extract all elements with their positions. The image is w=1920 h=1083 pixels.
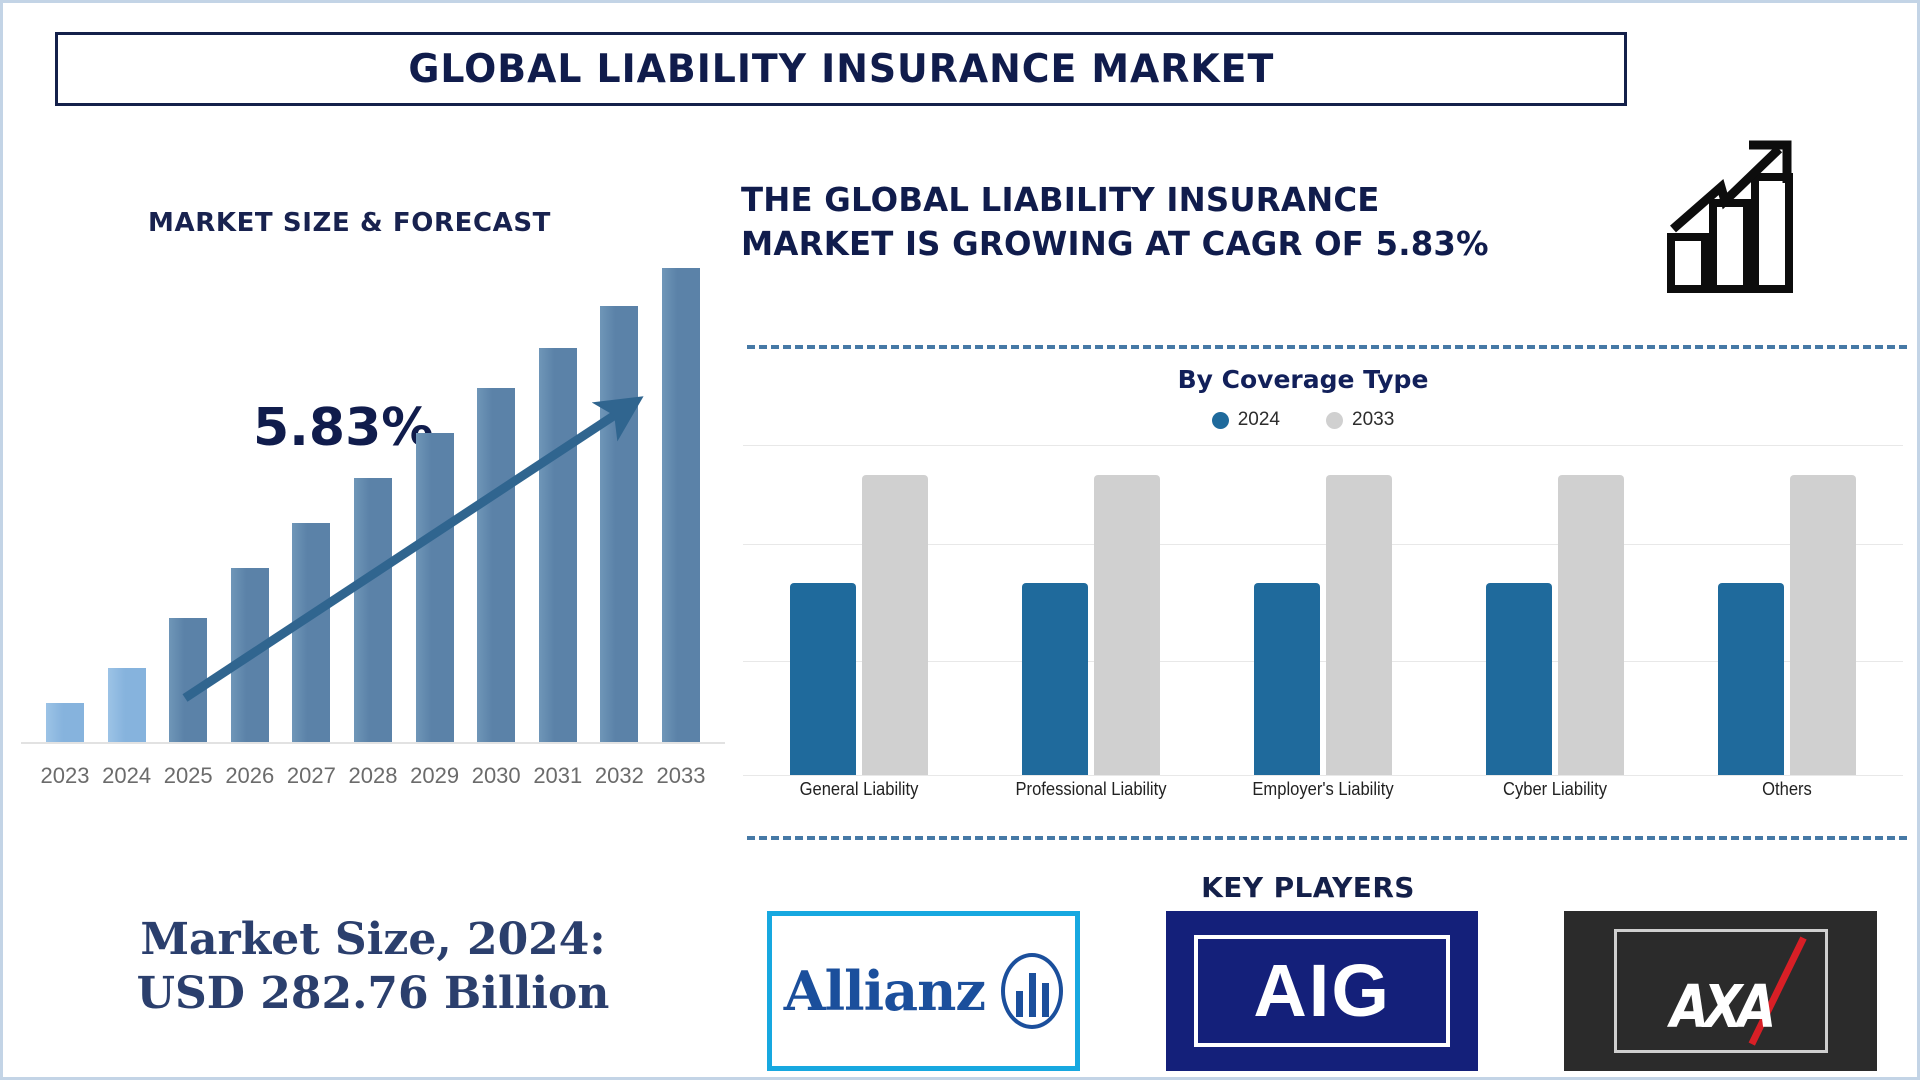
coverage-category-labels: General LiabilityProfessional LiabilityE… (743, 779, 1903, 813)
coverage-bar-group (1207, 445, 1439, 775)
year-label: 2030 (470, 763, 522, 789)
coverage-and-players-panel: THE GLOBAL LIABILITY INSURANCE MARKET IS… (733, 113, 1915, 1073)
page-title: GLOBAL LIABILITY INSURANCE MARKET (408, 47, 1274, 92)
market-size-bar (662, 268, 700, 743)
market-size-bar (600, 306, 638, 743)
key-players-logos: Allianz AIG AXA (767, 911, 1877, 1083)
coverage-bar-group (743, 445, 975, 775)
coverage-bar-2033 (862, 475, 928, 775)
market-size-bar (108, 668, 146, 743)
year-label: 2025 (162, 763, 214, 789)
headline-line-2: MARKET IS GROWING AT CAGR OF 5.83% (741, 222, 1682, 266)
logo-aig[interactable]: AIG (1166, 911, 1479, 1071)
year-label: 2029 (409, 763, 461, 789)
legend-label: 2033 (1352, 409, 1394, 431)
market-size-forecast-panel: MARKET SIZE & FORECAST 5.83% 20232024202… (3, 113, 743, 1073)
year-label: 2027 (285, 763, 337, 789)
logo-axa[interactable]: AXA (1564, 911, 1877, 1071)
coverage-bars (743, 445, 1903, 775)
coverage-bar-2033 (1558, 475, 1624, 775)
market-size-bar (539, 348, 577, 743)
headline: THE GLOBAL LIABILITY INSURANCE MARKET IS… (741, 178, 1682, 266)
market-size-bars (17, 253, 729, 743)
market-size-bar-slot (347, 253, 399, 743)
coverage-bar-2033 (1326, 475, 1392, 775)
legend-item[interactable]: 2033 (1326, 409, 1394, 431)
market-size-bar-slot (655, 253, 707, 743)
market-size-bar (354, 478, 392, 743)
coverage-bar-2033 (1094, 475, 1160, 775)
year-label: 2026 (224, 763, 276, 789)
coverage-bar-2024 (790, 583, 856, 775)
coverage-bar-group (1671, 445, 1903, 775)
coverage-bar-group (1439, 445, 1671, 775)
year-axis-labels: 2023202420252026202720282029203020312032… (17, 751, 729, 789)
coverage-bar-2024 (1022, 583, 1088, 775)
headline-line-1: THE GLOBAL LIABILITY INSURANCE (741, 178, 1682, 222)
coverage-chart-title: By Coverage Type (733, 365, 1873, 394)
coverage-bar-2024 (1254, 583, 1320, 775)
axis-baseline (21, 742, 725, 744)
grid-line (743, 775, 1903, 776)
section-label-market-size-forecast: MARKET SIZE & FORECAST (148, 208, 551, 238)
year-label: 2033 (655, 763, 707, 789)
bar-chart-growth-arrow-icon (1663, 133, 1803, 293)
coverage-bar-group (975, 445, 1207, 775)
legend-dot-icon (1326, 412, 1343, 429)
aig-frame: AIG (1194, 935, 1450, 1047)
allianz-lockup: Allianz (784, 953, 1063, 1029)
market-size-bar (231, 568, 269, 743)
market-size-bar-slot (285, 253, 337, 743)
legend-label: 2024 (1238, 409, 1280, 431)
market-size-bar-slot (470, 253, 522, 743)
market-size-bar (169, 618, 207, 743)
market-size-line-1: Market Size, 2024: (3, 913, 743, 967)
year-label: 2028 (347, 763, 399, 789)
allianz-emblem-icon (1001, 953, 1063, 1029)
axa-frame: AXA (1614, 929, 1828, 1053)
market-size-line-2: USD 282.76 Billion (3, 967, 743, 1021)
coverage-category-label: General Liability (752, 779, 965, 800)
market-size-bar-slot (224, 253, 276, 743)
year-label: 2023 (39, 763, 91, 789)
year-label: 2031 (532, 763, 584, 789)
coverage-category-label: Employer's Liability (1216, 779, 1429, 800)
title-box: GLOBAL LIABILITY INSURANCE MARKET (55, 32, 1627, 106)
legend-dot-icon (1212, 412, 1229, 429)
market-size-bar-slot (593, 253, 645, 743)
market-size-bar (292, 523, 330, 743)
logo-allianz[interactable]: Allianz (767, 911, 1080, 1071)
market-size-bar-slot (101, 253, 153, 743)
year-label: 2024 (101, 763, 153, 789)
key-players-title: KEY PLAYERS (733, 871, 1883, 904)
coverage-category-label: Professional Liability (984, 779, 1197, 800)
market-size-bar (416, 433, 454, 743)
coverage-category-label: Cyber Liability (1448, 779, 1661, 800)
axa-wordmark: AXA (1670, 973, 1771, 1041)
infographic-page: GLOBAL LIABILITY INSURANCE MARKET MARKET… (0, 0, 1920, 1080)
coverage-bar-2024 (1486, 583, 1552, 775)
legend-item[interactable]: 2024 (1212, 409, 1280, 431)
market-size-bar-slot (39, 253, 91, 743)
divider-top (747, 345, 1907, 349)
market-size-bar (477, 388, 515, 743)
market-size-bar (46, 703, 84, 743)
divider-bottom (747, 836, 1907, 840)
market-size-value: Market Size, 2024: USD 282.76 Billion (3, 913, 743, 1020)
market-size-bar-slot (409, 253, 461, 743)
coverage-category-label: Others (1680, 779, 1893, 800)
coverage-type-bar-chart: General LiabilityProfessional LiabilityE… (743, 445, 1903, 823)
coverage-bar-2024 (1718, 583, 1784, 775)
coverage-bar-2033 (1790, 475, 1856, 775)
year-label: 2032 (593, 763, 645, 789)
market-size-bar-slot (532, 253, 584, 743)
aig-wordmark: AIG (1253, 954, 1391, 1028)
market-size-bar-chart: 2023202420252026202720282029203020312032… (17, 243, 729, 851)
coverage-chart-legend: 20242033 (733, 409, 1873, 431)
market-size-bar-slot (162, 253, 214, 743)
allianz-wordmark: Allianz (784, 959, 985, 1023)
